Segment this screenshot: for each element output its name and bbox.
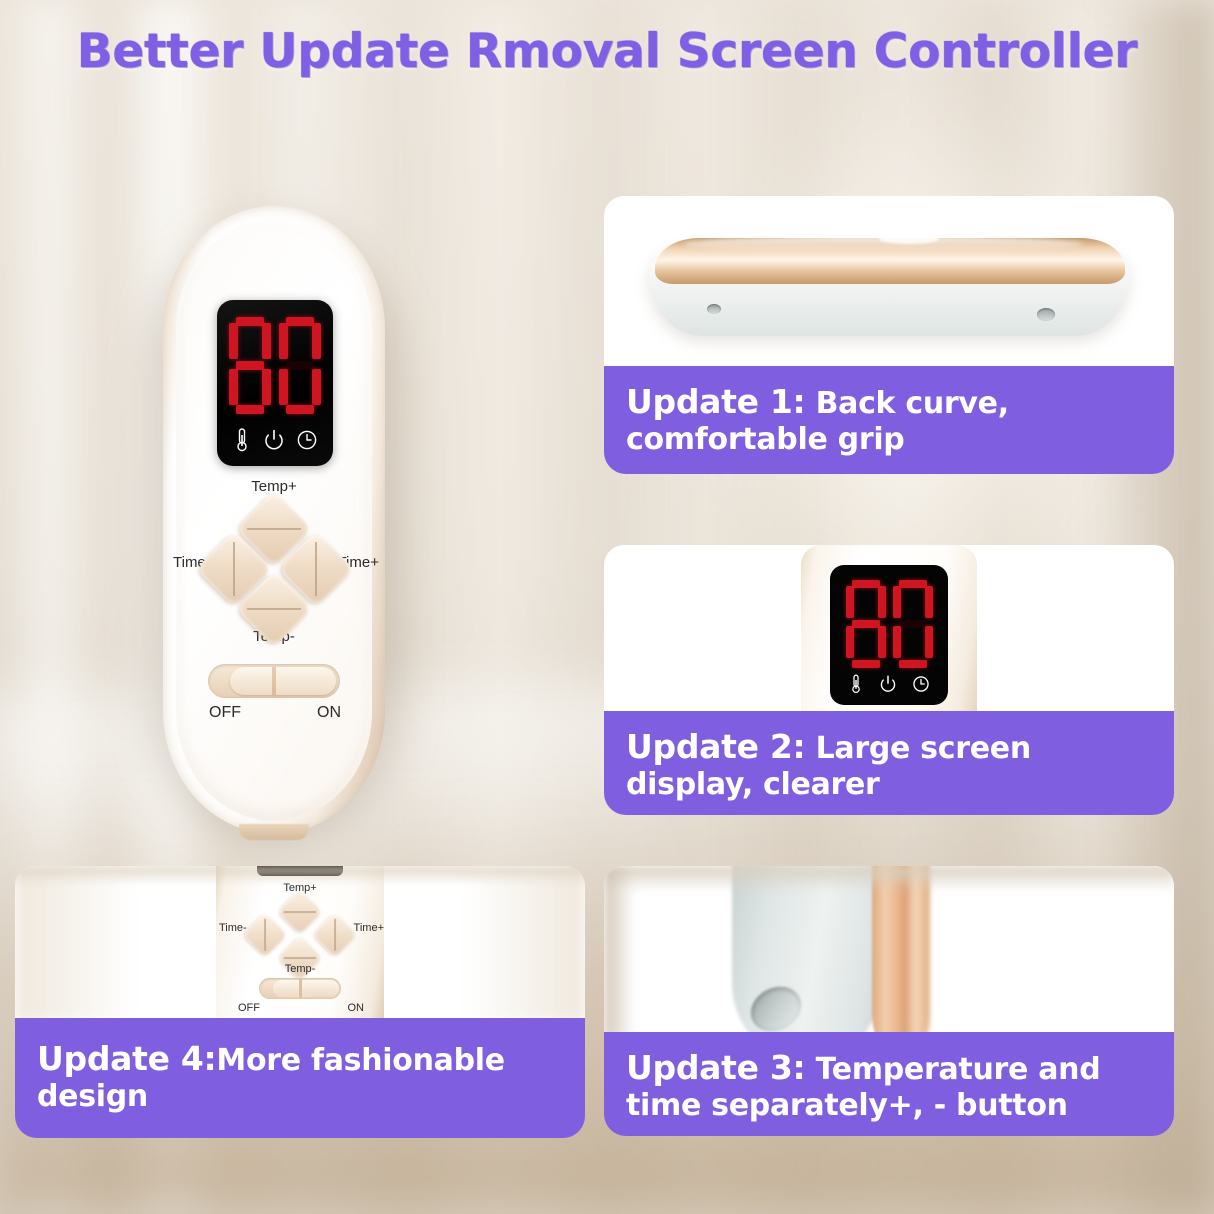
screen-icon-row <box>217 424 333 456</box>
hero-device: Temp+ Time- Time+ Temp- OFF ON <box>163 206 385 834</box>
c4-left-fade <box>15 866 215 1022</box>
power-switch-notch <box>272 666 276 696</box>
edge-macro-left-fade <box>604 866 634 1038</box>
update-3-lead: Update 3: <box>626 1048 805 1087</box>
c4-label-off: OFF <box>238 1002 260 1014</box>
c4-label-time-down: Time- <box>219 922 247 934</box>
c4-time-down-button[interactable] <box>242 912 287 957</box>
led-digit-ones <box>279 317 321 415</box>
screen-closeup-digits <box>830 579 948 669</box>
page-title: Better Update Rmoval Screen Controller <box>0 24 1214 79</box>
clock-icon <box>296 429 318 451</box>
update-4-photo: Temp+ Time- Time+ Temp- OFF ON <box>15 866 585 1022</box>
c4-power-switch-notch <box>299 979 302 998</box>
update-2-photo: Temp+ <box>604 545 1174 717</box>
hero-body-shell: Temp+ Time- Time+ Temp- OFF ON <box>163 206 385 834</box>
power-switch-knob[interactable] <box>230 667 336 695</box>
c4-temp-up-button[interactable] <box>277 889 322 934</box>
c4-power-switch[interactable] <box>259 978 341 999</box>
update-4-lead: Update 4: <box>37 1039 216 1078</box>
hero-label-on: ON <box>317 704 341 722</box>
side-profile-device <box>649 220 1129 344</box>
c4-top-fade <box>15 866 585 884</box>
profile-notch <box>879 234 939 244</box>
update-2-lead: Update 2: <box>626 727 805 766</box>
thermometer-icon <box>848 673 864 700</box>
led-digit-ones <box>893 580 933 668</box>
edge-macro-top-fade <box>604 866 1174 892</box>
feature-card-update-2: Temp+ Update 2: Large screen display, cl… <box>604 545 1174 815</box>
update-3-photo <box>604 866 1174 1038</box>
c4-power-switch-knob[interactable] <box>273 980 339 997</box>
update-1-photo <box>604 196 1174 372</box>
feature-card-update-3: Update 3: Temperature and time separatel… <box>604 866 1174 1136</box>
edge-macro-scene <box>604 866 1174 1038</box>
power-switch[interactable] <box>208 664 340 698</box>
power-icon <box>879 674 897 699</box>
c4-label-on: ON <box>348 1002 365 1014</box>
screen-closeup-icon-row <box>830 673 948 699</box>
feature-card-update-4: Temp+ Time- Time+ Temp- OFF ON Update 4:… <box>15 866 585 1138</box>
power-icon <box>263 428 285 452</box>
update-1-caption: Update 1: Back curve, comfortable grip <box>604 366 1174 474</box>
thermometer-icon <box>232 427 252 453</box>
hero-label-off: OFF <box>209 704 241 722</box>
screen-closeup-device: Temp+ <box>801 545 977 717</box>
button-cluster-device: Temp+ Time- Time+ Temp- OFF ON <box>216 866 384 1022</box>
led-digits <box>217 314 333 418</box>
feature-card-update-1: Update 1: Back curve, comfortable grip <box>604 196 1174 474</box>
c4-time-up-button[interactable] <box>312 912 357 957</box>
c4-label-time-up: Time+ <box>354 922 384 934</box>
update-4-caption: Update 4:More fashionable design <box>15 1018 585 1138</box>
led-digit-tens <box>229 317 271 415</box>
hero-label-temp-up: Temp+ <box>251 478 296 495</box>
update-1-lead: Update 1: <box>626 382 805 421</box>
screen-closeup-display <box>830 565 948 705</box>
hero-bottom-tab <box>239 824 309 840</box>
profile-hole-right <box>1037 308 1055 321</box>
profile-hole-left <box>707 304 721 314</box>
update-2-caption: Update 2: Large screen display, clearer <box>604 711 1174 815</box>
clock-icon <box>912 675 930 698</box>
c4-label-temp-down: Temp- <box>285 963 316 975</box>
led-screen <box>217 300 333 466</box>
c4-right-fade <box>385 866 585 1022</box>
update-3-caption: Update 3: Temperature and time separatel… <box>604 1032 1174 1136</box>
led-digit-tens <box>846 580 886 668</box>
product-infographic: Better Update Rmoval Screen Controller <box>0 0 1214 1214</box>
